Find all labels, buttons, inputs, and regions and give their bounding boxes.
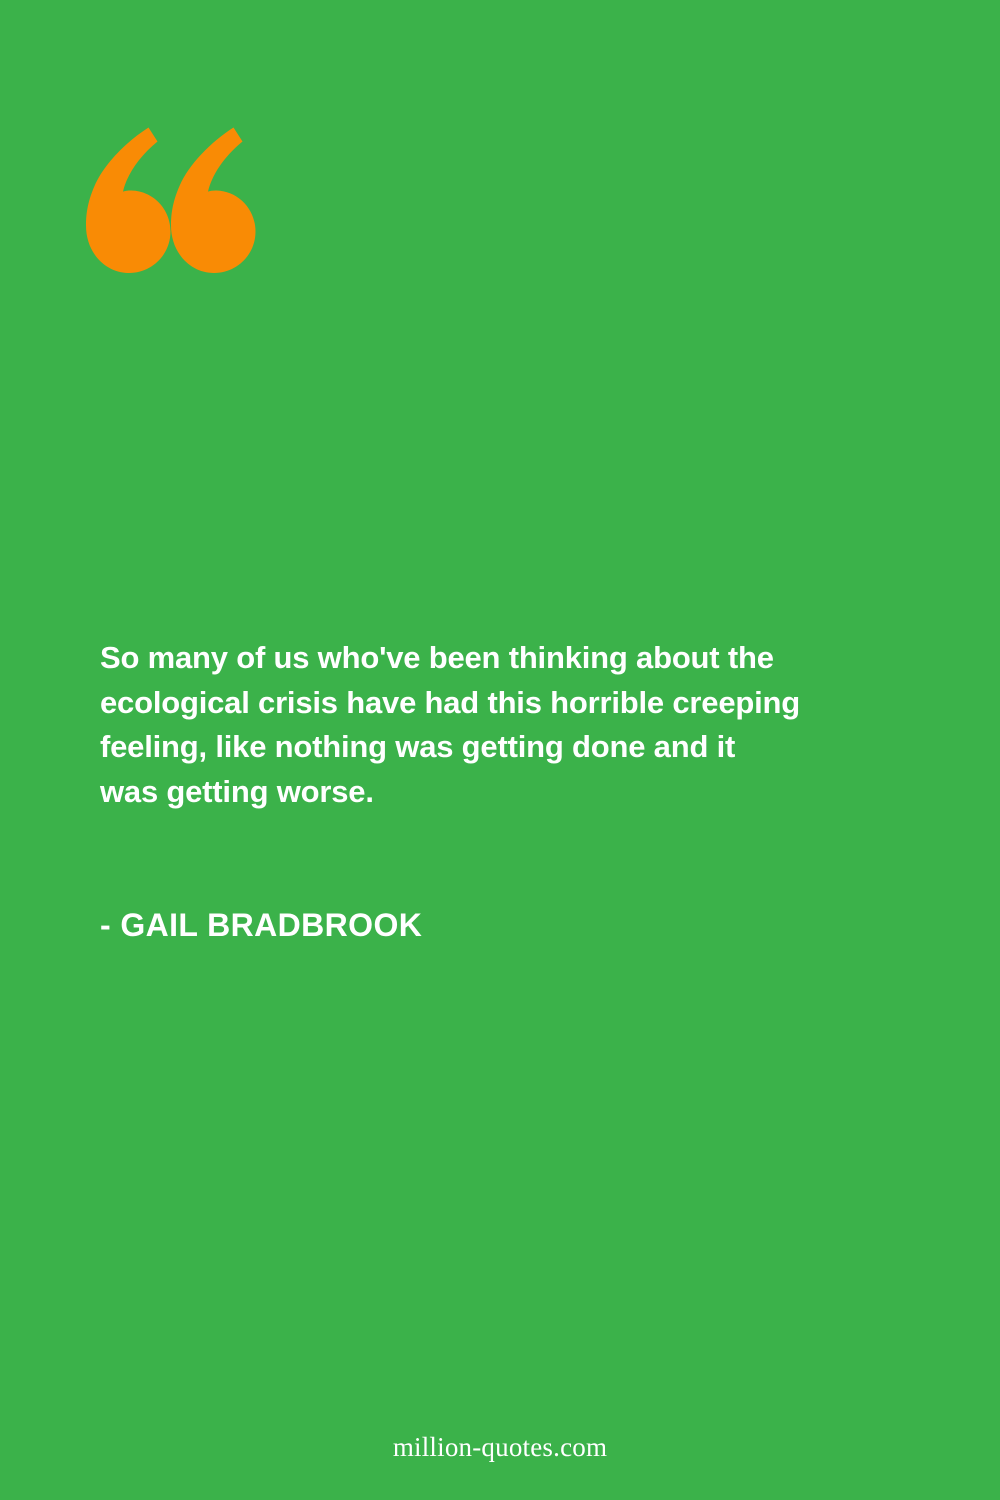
quote-text: So many of us who've been thinking about… <box>100 636 800 814</box>
open-quotation-mark-icon <box>86 124 256 276</box>
quote-poster: So many of us who've been thinking about… <box>0 0 1000 1500</box>
footer-watermark: million-quotes.com <box>0 1432 1000 1463</box>
quote-attribution: - GAIL BRADBROOK <box>100 907 422 944</box>
